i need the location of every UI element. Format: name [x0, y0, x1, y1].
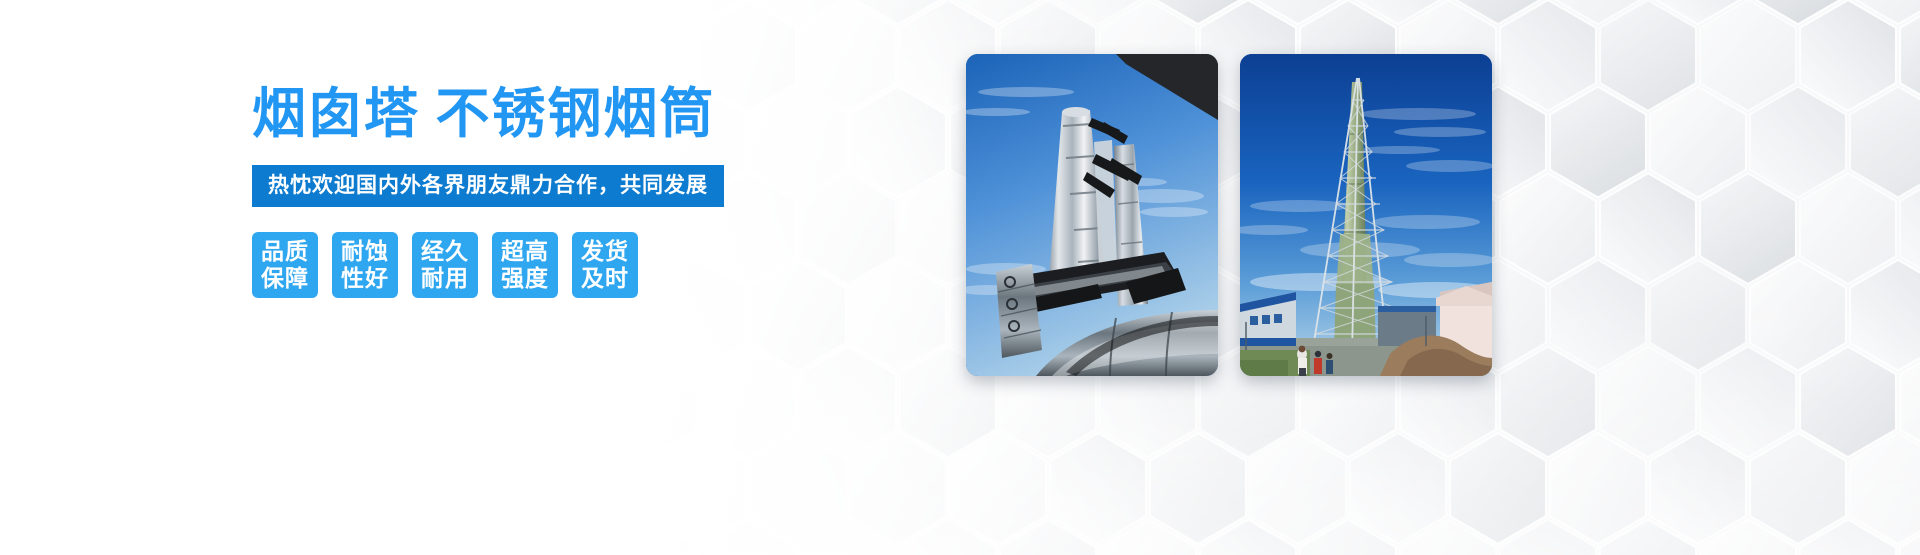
- badge-line-2: 性好: [341, 265, 389, 292]
- badge-line-2: 强度: [501, 265, 549, 292]
- photo-stainless-steel-chimney[interactable]: [966, 54, 1218, 376]
- badge-line-2: 及时: [581, 265, 629, 292]
- badge-line-1: 经久: [421, 238, 469, 265]
- promo-banner: 烟囱塔 不锈钢烟筒 热忱欢迎国内外各界朋友鼎力合作，共同发展 品质 保障 耐蚀 …: [0, 0, 1920, 555]
- badge-line-1: 品质: [261, 238, 309, 265]
- feature-badge[interactable]: 经久 耐用: [412, 232, 478, 298]
- banner-subtitle-bar: 热忱欢迎国内外各界朋友鼎力合作，共同发展: [252, 165, 724, 207]
- badge-line-2: 保障: [261, 265, 309, 292]
- photo-lattice-tower-chimney[interactable]: [1240, 54, 1492, 376]
- badge-line-2: 耐用: [421, 265, 469, 292]
- feature-badge[interactable]: 耐蚀 性好: [332, 232, 398, 298]
- feature-badge[interactable]: 发货 及时: [572, 232, 638, 298]
- feature-badge[interactable]: 品质 保障: [252, 232, 318, 298]
- feature-badge[interactable]: 超高 强度: [492, 232, 558, 298]
- feature-badge-list: 品质 保障 耐蚀 性好 经久 耐用 超高 强度 发货 及时: [252, 232, 812, 298]
- badge-line-1: 超高: [501, 238, 549, 265]
- badge-line-1: 耐蚀: [341, 238, 389, 265]
- banner-text-block: 烟囱塔 不锈钢烟筒 热忱欢迎国内外各界朋友鼎力合作，共同发展 品质 保障 耐蚀 …: [252, 86, 812, 298]
- banner-photo-group: [966, 54, 1492, 376]
- banner-headline: 烟囱塔 不锈钢烟筒: [252, 86, 812, 143]
- badge-line-1: 发货: [581, 238, 629, 265]
